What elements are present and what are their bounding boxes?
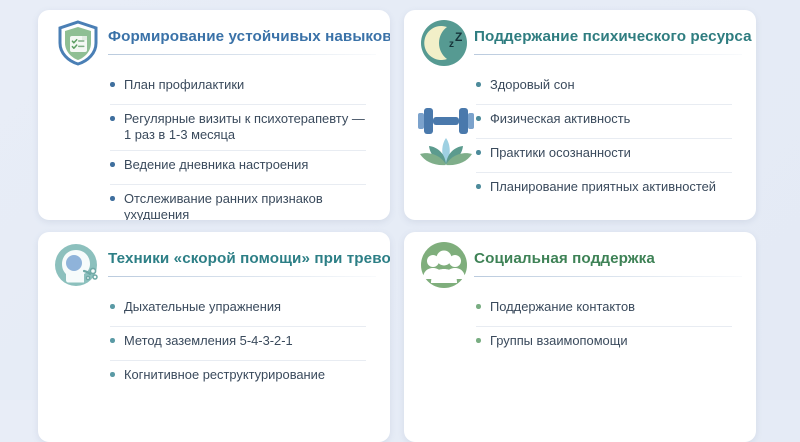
title-divider [108,276,376,277]
bullet-icon [476,338,481,343]
list-item[interactable]: Группы взаимопомощи [404,326,742,360]
list-item[interactable]: Поддержание контактов [404,292,742,326]
list-item[interactable]: Практики осознанности [404,138,742,172]
bullet-icon [110,116,115,121]
shield-checklist-icon [54,19,102,67]
card-emergency-techniques[interactable]: Техники «скорой помощи» при тревоге Дыха… [38,232,390,442]
people-group-icon [420,241,468,289]
bullet-icon [110,162,115,167]
list-item[interactable]: Планирование приятных активностей [404,172,742,206]
bullet-icon [476,150,481,155]
card-title: Техники «скорой помощи» при тревоге [108,250,378,267]
bullet-icon [476,304,481,309]
list-item[interactable]: Отслеживание ранних признаков ухудшения [38,184,376,220]
list-item[interactable]: План профилактики [38,70,376,104]
card-title: Поддержание психического ресурса [474,28,744,45]
list-item-label: Поддержание контактов [490,299,635,315]
bullet-icon [476,184,481,189]
list-item[interactable]: Здоровый сон [404,70,742,104]
bullet-icon [476,116,481,121]
svg-text:Z: Z [455,30,462,44]
list-item-label: Когнитивное реструктурирование [124,367,325,383]
card-header: Формирование устойчивых навыков [38,10,390,72]
list-item-label: Физическая активность [490,111,630,127]
list-item[interactable]: Метод заземления 5-4-3-2-1 [38,326,376,360]
card-list: Дыхательные упражнения Метод заземления … [38,292,390,442]
list-item-label: Дыхательные упражнения [124,299,281,315]
list-item-label: Метод заземления 5-4-3-2-1 [124,333,293,349]
list-item[interactable]: Ведение дневника настроения [38,150,376,184]
card-list: Поддержание контактов Группы взаимопомощ… [404,292,756,442]
list-item[interactable]: Когнитивное реструктурирование [38,360,376,394]
card-header: Социальная поддержка [404,232,756,294]
bullet-icon [110,338,115,343]
card-resilience[interactable]: Формирование устойчивых навыков План про… [38,10,390,220]
list-item[interactable]: Физическая активность [404,104,742,138]
card-header: z Z Поддержание психического ресурса [404,10,756,72]
list-item-label: Практики осознанности [490,145,631,161]
list-item-label: Ведение дневника настроения [124,157,308,173]
card-list: План профилактики Регулярные визиты к пс… [38,70,390,220]
card-social-support[interactable]: Социальная поддержка Поддержание контакт… [404,232,756,442]
list-item-label: Группы взаимопомощи [490,333,628,349]
card-title: Социальная поддержка [474,250,744,267]
bullet-icon [110,304,115,309]
list-item-label: Регулярные визиты к психотерапевту — 1 р… [124,111,368,143]
bullet-icon [110,82,115,87]
head-breathing-icon [54,241,102,289]
list-item[interactable]: Дыхательные упражнения [38,292,376,326]
bullet-icon [110,372,115,377]
dumbbell-icon [416,104,460,138]
card-list: Здоровый сон Физическая активность [404,70,756,220]
list-item-label: Планирование приятных активностей [490,179,716,195]
svg-text:z: z [449,39,454,50]
title-divider [474,54,742,55]
lotus-icon [416,136,460,170]
bullet-icon [110,196,115,201]
title-divider [474,276,742,277]
list-item-label: План профилактики [124,77,244,93]
bullet-icon [476,82,481,87]
cards-board: Формирование устойчивых навыков План про… [0,0,800,400]
card-title: Формирование устойчивых навыков [108,28,378,45]
list-item-label: Здоровый сон [490,77,575,93]
title-divider [108,54,376,55]
moon-sleep-icon: z Z [420,19,468,67]
card-mental-resource[interactable]: z Z Поддержание психического ресурса Здо… [404,10,756,220]
list-item[interactable]: Регулярные визиты к психотерапевту — 1 р… [38,104,376,150]
list-item-label: Отслеживание ранних признаков ухудшения [124,191,368,220]
card-header: Техники «скорой помощи» при тревоге [38,232,390,294]
